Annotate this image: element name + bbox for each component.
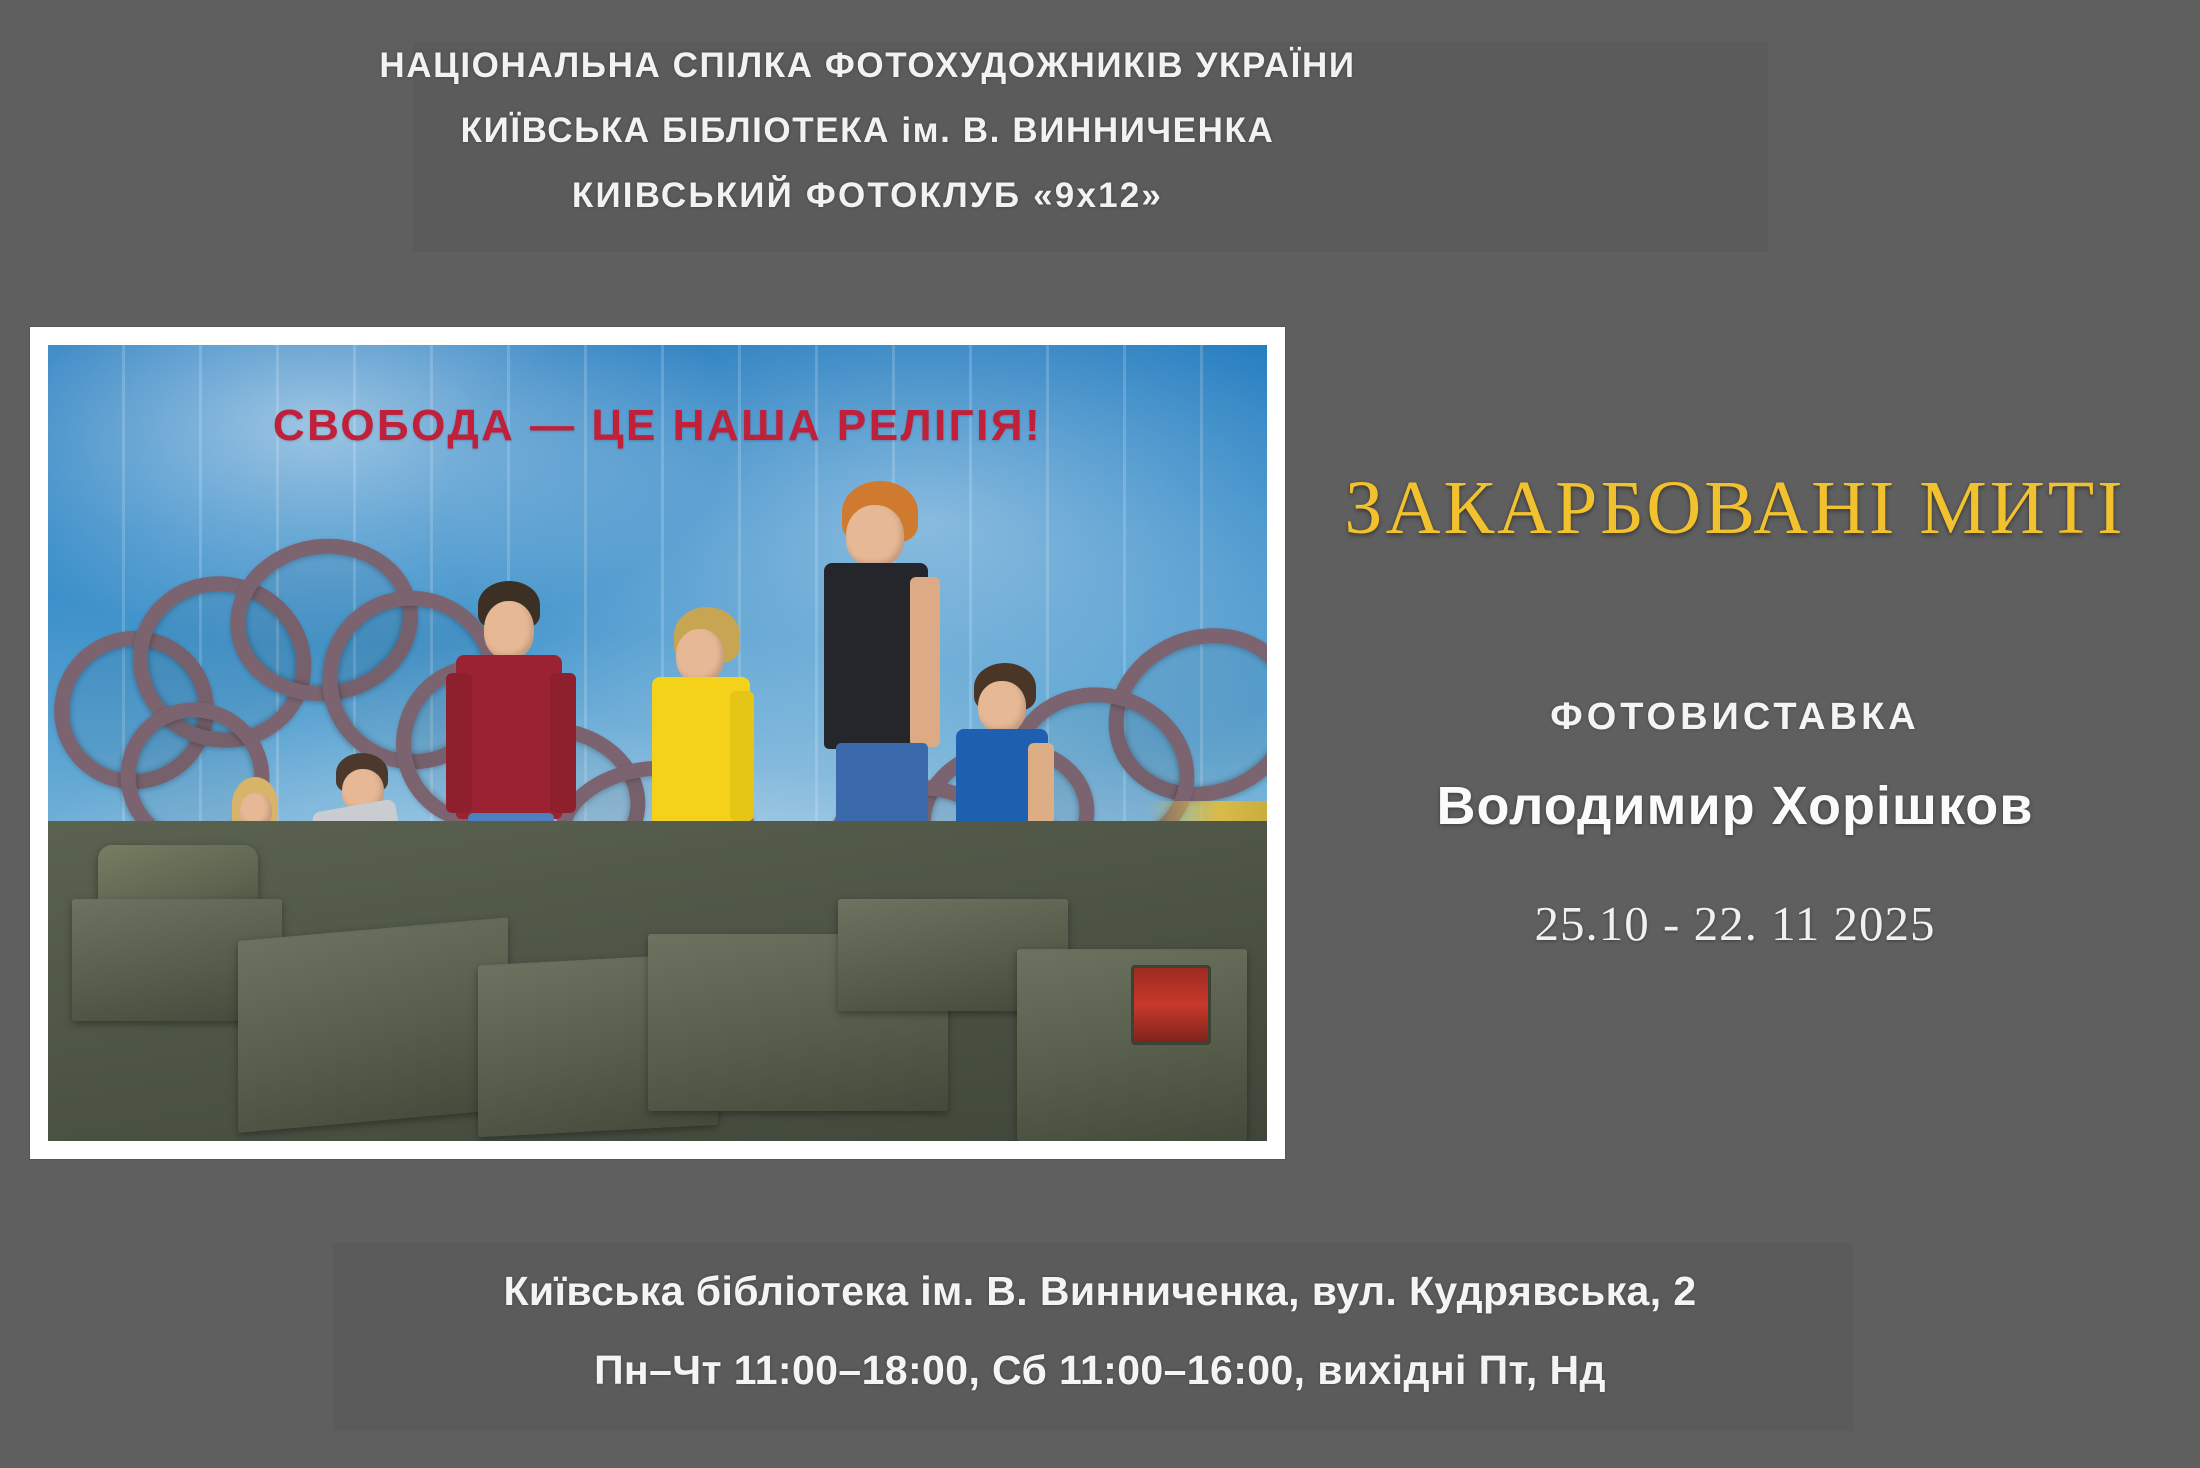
venue-opening-hours: Пн–Чт 11:00–18:00, Сб 11:00–16:00, вихід… (0, 1347, 2200, 1394)
photo-frame: СВОБОДА — ЦЕ НАША РЕЛІГІЯ! (30, 327, 1285, 1159)
venue-address: Київська бібліотека ім. В. Винниченка, в… (0, 1268, 2200, 1315)
vehicle-taillight (1131, 965, 1211, 1045)
organizer-line-3: КИІВСЬКИЙ ФОТОКЛУБ «9х12» (0, 178, 1735, 213)
exhibition-info-column: ЗАКАРБОВАНІ МИТІ ФОТОВИСТАВКА Володимир … (1285, 470, 2185, 952)
exhibition-title: ЗАКАРБОВАНІ МИТІ (1285, 470, 2185, 546)
venue-footer: Київська бібліотека ім. В. Винниченка, в… (0, 1268, 2200, 1394)
author-name: Володимир Хорішков (1285, 775, 2185, 837)
exhibition-kind-label: ФОТОВИСТАВКА (1285, 696, 2185, 739)
exhibition-photograph: СВОБОДА — ЦЕ НАША РЕЛІГІЯ! (48, 345, 1267, 1141)
organizer-line-1: НАЦІОНАЛЬНА СПІЛКА ФОТОХУДОЖНИКІВ УКРАЇН… (0, 48, 1735, 83)
exhibition-poster: НАЦІОНАЛЬНА СПІЛКА ФОТОХУДОЖНИКІВ УКРАЇН… (0, 0, 2200, 1468)
vehicle-stowage-box (238, 917, 508, 1133)
billboard-slogan: СВОБОДА — ЦЕ НАША РЕЛІГІЯ! (48, 401, 1267, 451)
organizer-header: НАЦІОНАЛЬНА СПІЛКА ФОТОХУДОЖНИКІВ УКРАЇН… (0, 48, 1735, 213)
exhibition-dates: 25.10 - 22. 11 2025 (1285, 895, 2185, 952)
organizer-line-2: КИЇВСЬКА БІБЛІОТЕКА ім. В. ВИННИЧЕНКА (0, 113, 1735, 148)
